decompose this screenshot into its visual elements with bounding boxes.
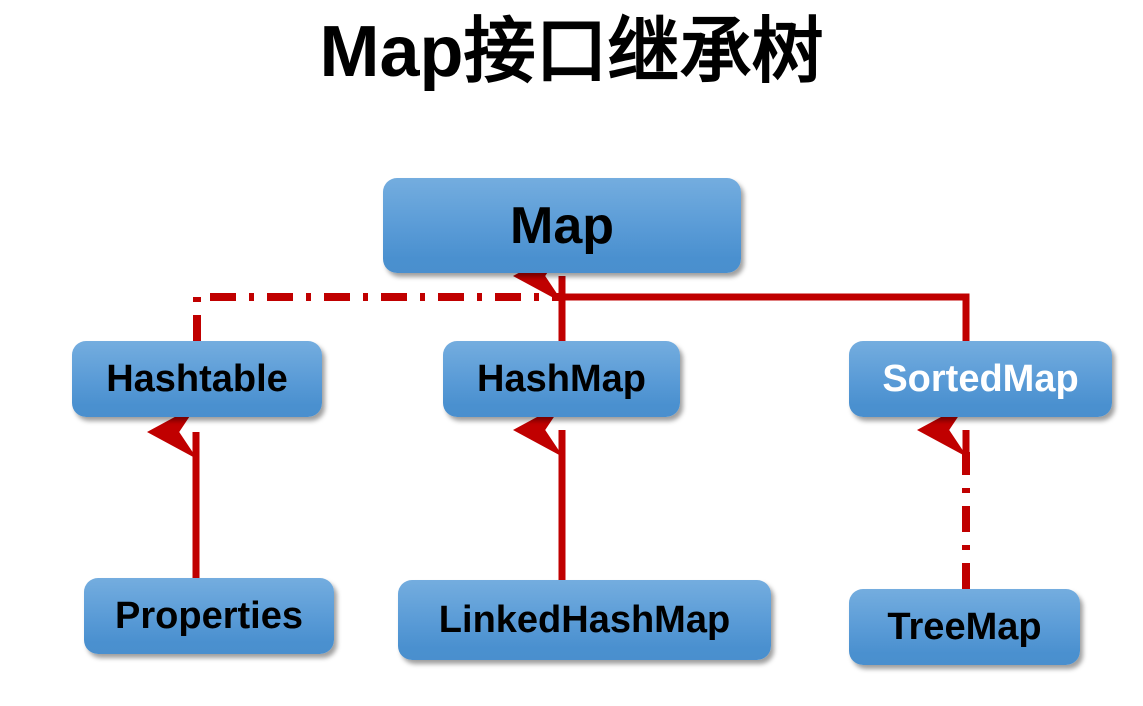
node-properties[interactable]: Properties (84, 578, 334, 654)
node-label-sortedmap: SortedMap (882, 360, 1078, 398)
node-hashtable[interactable]: Hashtable (72, 341, 322, 417)
diagram-canvas: Map接口继承树 (0, 0, 1143, 706)
connector-hashtable-to-map (197, 297, 562, 341)
node-treemap[interactable]: TreeMap (849, 589, 1080, 665)
node-map[interactable]: Map (383, 178, 741, 273)
node-linkedhashmap[interactable]: LinkedHashMap (398, 580, 771, 660)
node-label-map: Map (510, 200, 614, 252)
node-label-linkedhashmap: LinkedHashMap (439, 601, 730, 639)
node-label-hashtable: Hashtable (106, 360, 288, 398)
node-label-properties: Properties (115, 597, 303, 635)
node-sortedmap[interactable]: SortedMap (849, 341, 1112, 417)
node-hashmap[interactable]: HashMap (443, 341, 680, 417)
node-label-hashmap: HashMap (477, 360, 646, 398)
node-label-treemap: TreeMap (887, 608, 1041, 646)
connector-sortedmap-to-map (566, 297, 966, 341)
